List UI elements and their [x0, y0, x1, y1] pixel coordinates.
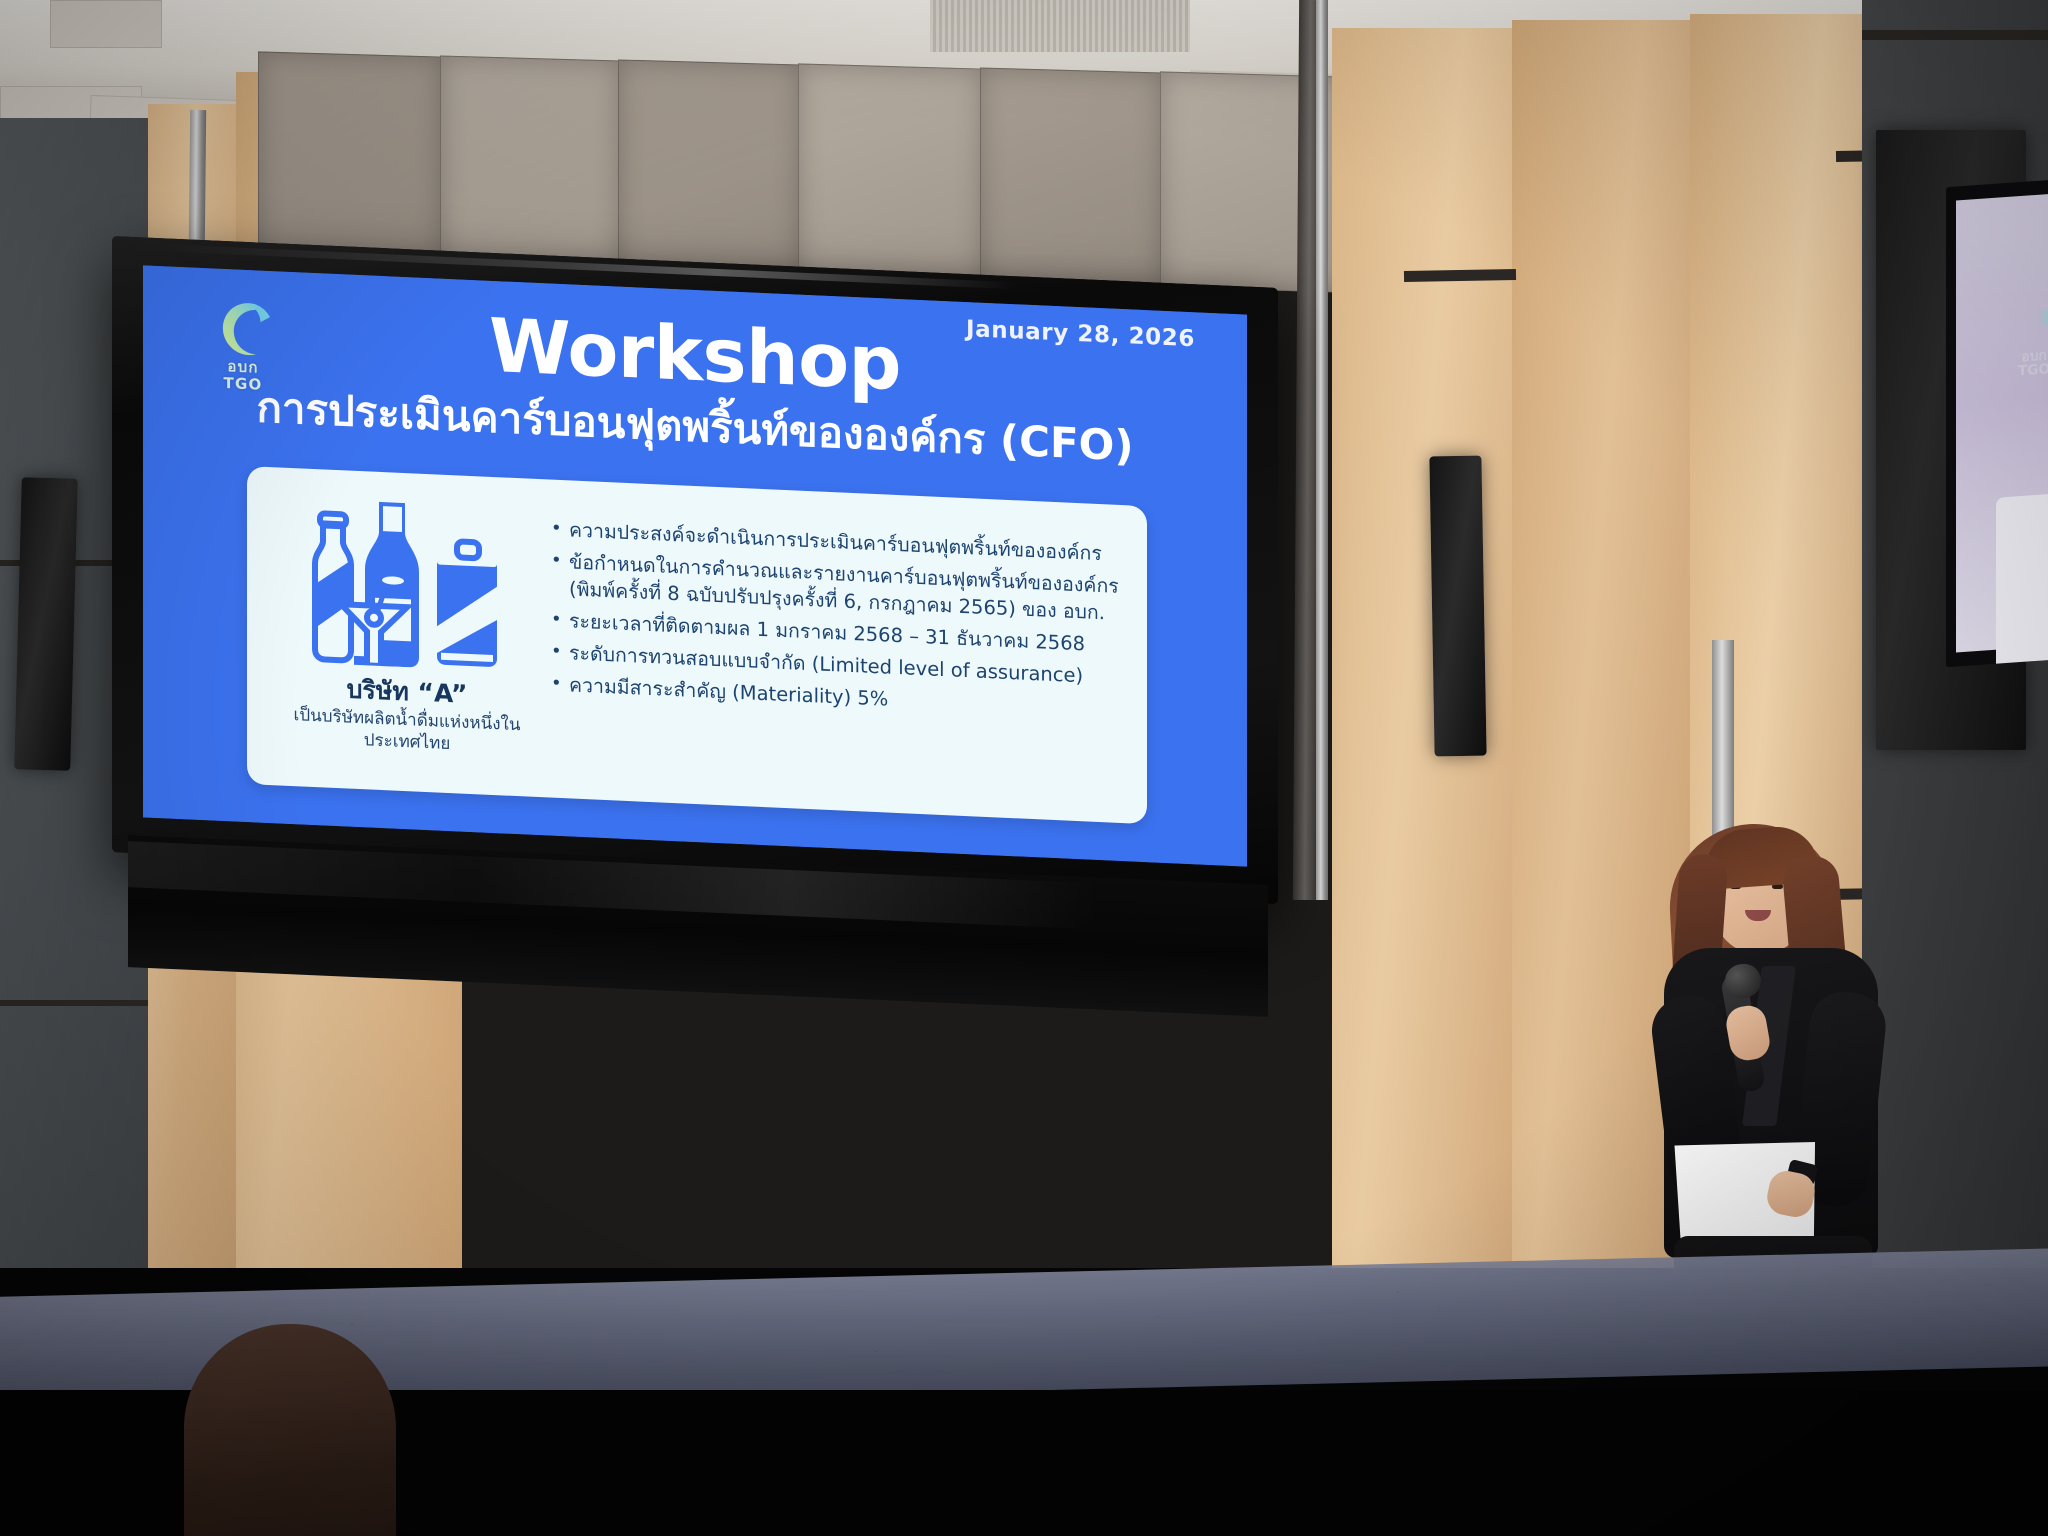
svg-text:TGO: TGO	[2018, 361, 2048, 379]
wall-panel-wood	[1332, 28, 1514, 1308]
acoustic-panel	[258, 51, 442, 264]
beverage-bottles-icon	[301, 490, 513, 671]
wall-trim	[1404, 269, 1516, 282]
tgo-c-logo-secondary-icon: อบก TGO	[1988, 304, 2048, 380]
acoustic-panel	[618, 59, 800, 274]
company-block: บริษัท “A” เป็นบริษัทผลิตน้ำดื่มแห่งหนึ่…	[273, 483, 541, 759]
audience-member-foreground	[184, 1324, 396, 1536]
wall-trim	[1862, 30, 2048, 40]
display-screen: January 28, 2026	[143, 265, 1247, 866]
slide-content-card: บริษัท “A” เป็นบริษัทผลิตน้ำดื่มแห่งหนึ่…	[247, 466, 1147, 824]
ceiling-vent-icon	[930, 0, 1190, 52]
wall-trim	[0, 1000, 150, 1006]
secondary-display-screen: อบก TGO	[1956, 191, 2048, 653]
acoustic-panel	[980, 67, 1162, 286]
bullet-list-block: ความประสงค์จะดำเนินการประเมินคาร์บอนฟุตพ…	[547, 515, 1133, 728]
bullet-list: ความประสงค์จะดำเนินการประเมินคาร์บอนฟุตพ…	[547, 515, 1133, 723]
slide: January 28, 2026	[143, 265, 1247, 866]
secondary-display-card	[1996, 491, 2048, 667]
acoustic-panel	[798, 63, 982, 280]
secondary-display[interactable]: อบก TGO	[1946, 177, 2048, 667]
company-description: เป็นบริษัทผลิตน้ำดื่มแห่งหนึ่งในประเทศไท…	[273, 703, 541, 759]
presentation-display[interactable]: January 28, 2026	[112, 236, 1278, 904]
acoustic-panel	[440, 55, 620, 268]
wall-speaker-right	[1429, 456, 1486, 757]
ceiling-recess	[50, 0, 162, 48]
room-scene: อบก TGO January 28, 2026	[0, 0, 2048, 1536]
support-pole	[1316, 0, 1328, 900]
wall-speaker-left	[14, 477, 78, 770]
